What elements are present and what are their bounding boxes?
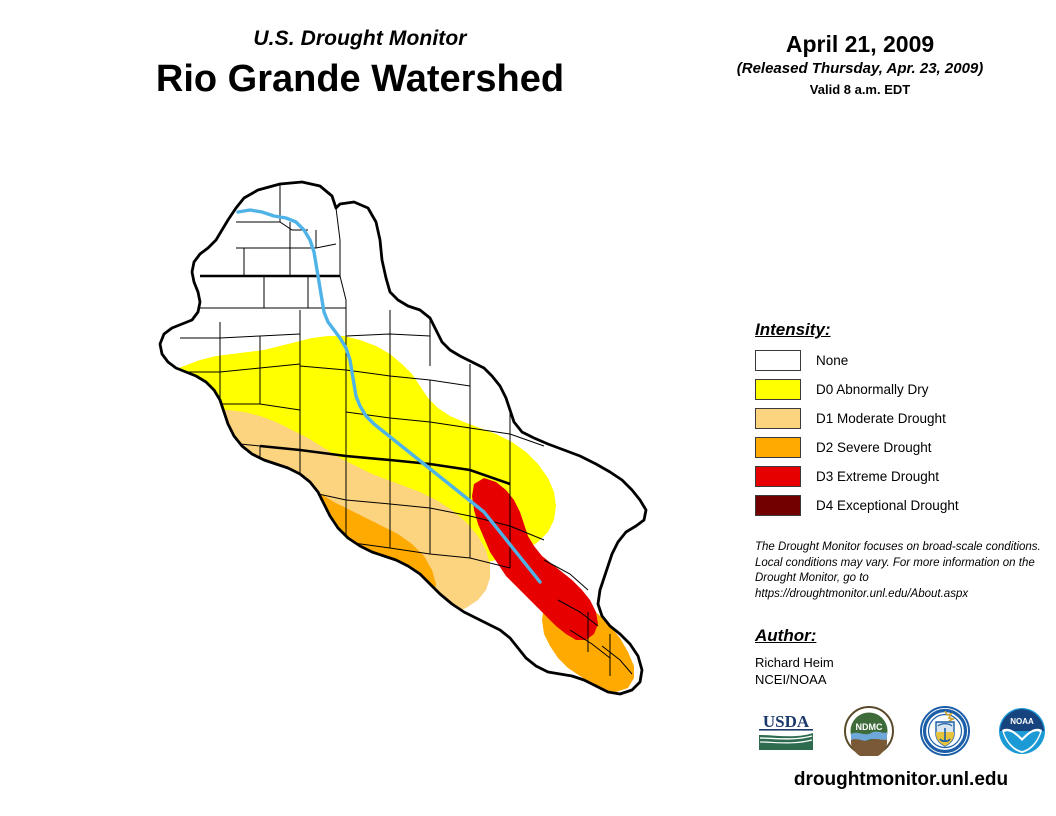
legend-swatch-d3 (755, 466, 801, 487)
legend-swatch-d1 (755, 408, 801, 429)
map-valid-date: April 21, 2009 (690, 30, 1030, 58)
drought-monitor-supertitle: U.S. Drought Monitor (60, 26, 660, 52)
legend-item-none[interactable]: None (755, 349, 1045, 372)
noaa-logo-text: NOAA (1010, 717, 1034, 726)
legend-heading: Intensity: (755, 320, 1045, 340)
author-block: Author: Richard Heim NCEI/NOAA (755, 626, 1045, 688)
header-left: U.S. Drought Monitor Rio Grande Watershe… (60, 26, 660, 102)
unl-logo[interactable] (920, 706, 970, 756)
legend-swatch-d4 (755, 495, 801, 516)
ndmc-logo-text: NDMC (855, 722, 882, 732)
legend-label-d3: D3 Extreme Drought (816, 469, 939, 485)
legend: Intensity: None D0 Abnormally Dry D1 Mod… (755, 320, 1045, 523)
header-date-block: April 21, 2009 (Released Thursday, Apr. … (690, 30, 1030, 99)
usda-logo[interactable]: USDA (755, 708, 817, 754)
legend-label-d1: D1 Moderate Drought (816, 411, 946, 427)
legend-item-d4[interactable]: D4 Exceptional Drought (755, 494, 1045, 517)
legend-swatch-d2 (755, 437, 801, 458)
legend-label-d0: D0 Abnormally Dry (816, 382, 929, 398)
drought-map[interactable] (140, 160, 660, 800)
legend-label-d4: D4 Exceptional Drought (816, 498, 959, 514)
legend-item-d3[interactable]: D3 Extreme Drought (755, 465, 1045, 488)
watershed-map-svg[interactable] (140, 160, 660, 800)
author-heading: Author: (755, 626, 1045, 646)
author-name: Richard Heim (755, 654, 1045, 671)
legend-swatch-d0 (755, 379, 801, 400)
author-affiliation: NCEI/NOAA (755, 671, 1045, 688)
legend-swatch-none (755, 350, 801, 371)
noaa-logo[interactable]: NOAA (997, 706, 1047, 756)
disclaimer-text: The Drought Monitor focuses on broad-sca… (755, 540, 1045, 602)
legend-item-d2[interactable]: D2 Severe Drought (755, 436, 1045, 459)
valid-time: Valid 8 a.m. EDT (690, 81, 1030, 99)
ndmc-logo[interactable]: NDMC (844, 706, 894, 756)
legend-item-d0[interactable]: D0 Abnormally Dry (755, 378, 1045, 401)
release-date: (Released Thursday, Apr. 23, 2009) (690, 59, 1030, 79)
legend-label-none: None (816, 353, 848, 369)
legend-label-d2: D2 Severe Drought (816, 440, 932, 456)
page-title: Rio Grande Watershed (60, 56, 660, 102)
legend-item-d1[interactable]: D1 Moderate Drought (755, 407, 1045, 430)
usda-logo-text: USDA (763, 712, 810, 731)
logo-row: USDA NDMC NOAA (755, 702, 1047, 760)
site-url[interactable]: droughtmonitor.unl.edu (755, 768, 1047, 792)
